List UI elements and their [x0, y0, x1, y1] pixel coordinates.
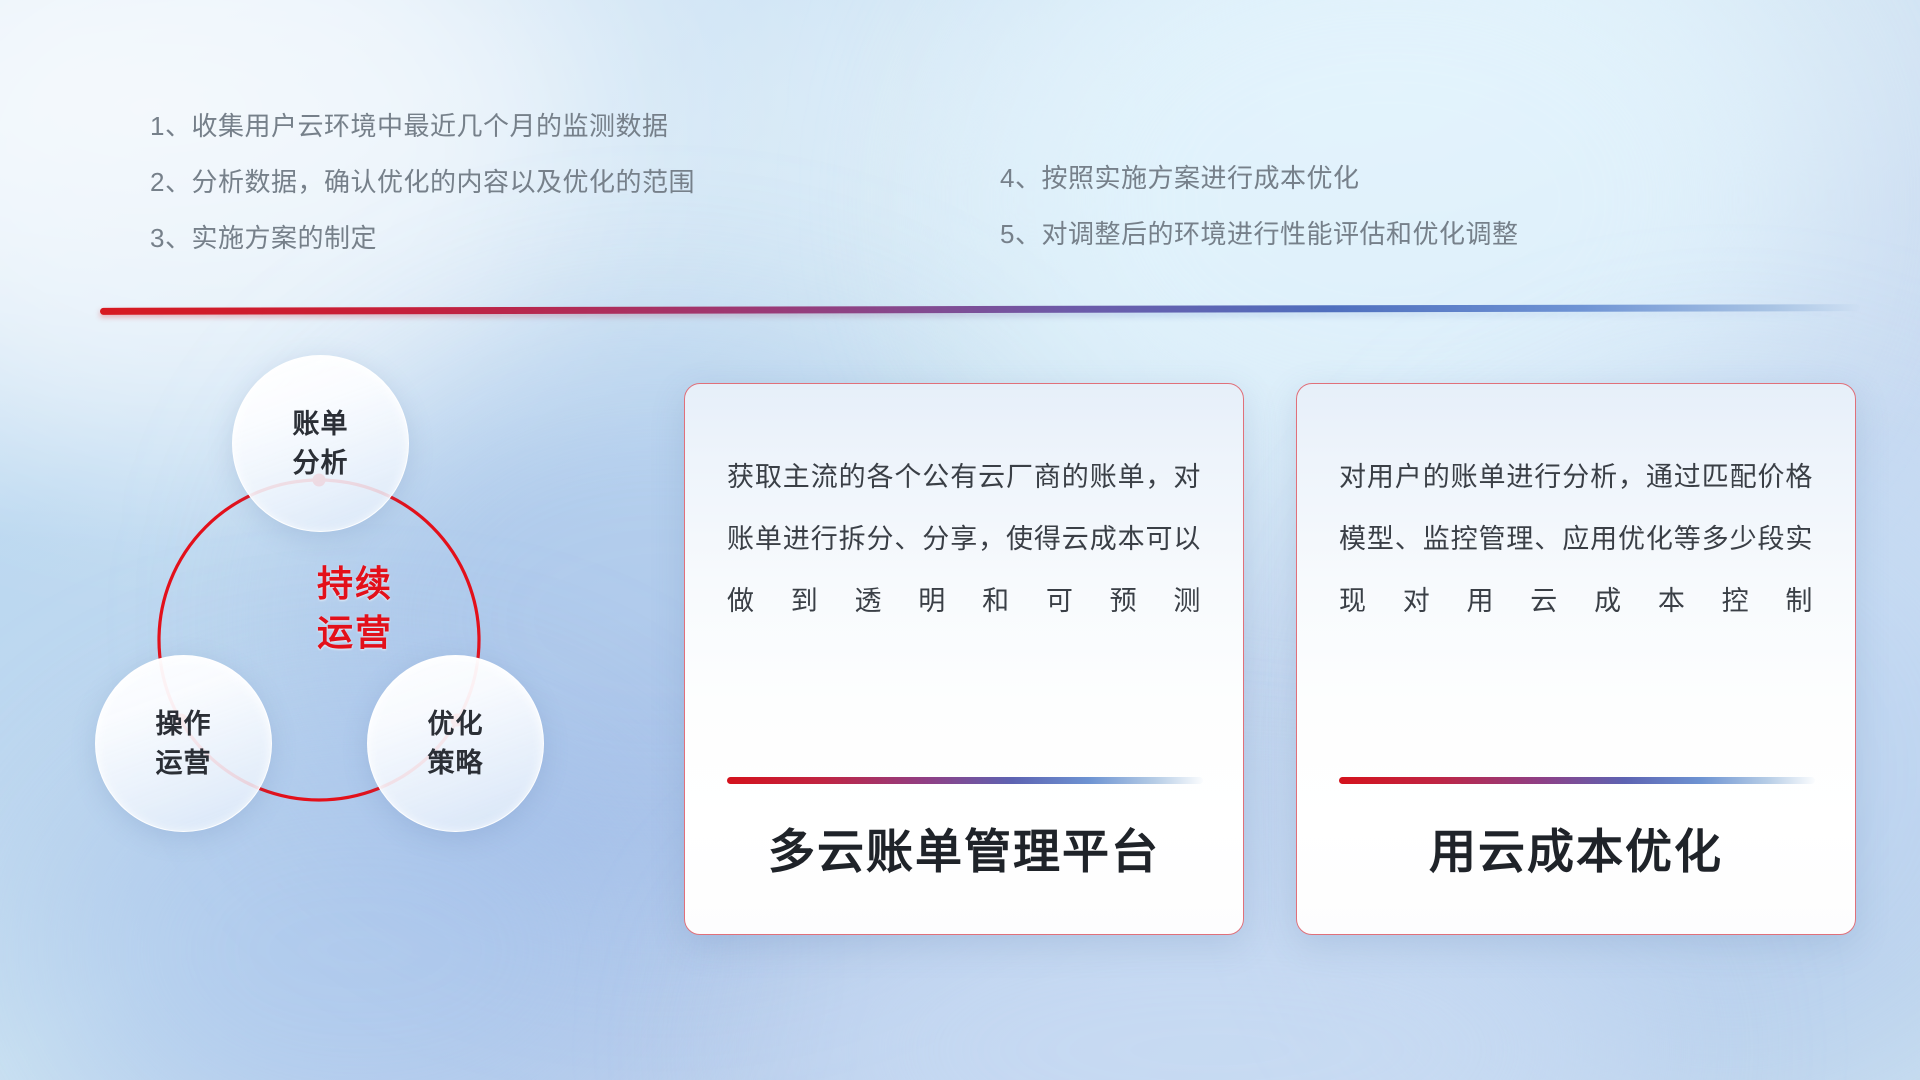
venn-bubble-billing-analysis[interactable]: 账单 分析: [232, 355, 409, 532]
venn-diagram: 账单 分析 操作 运营 优化 策略 持续 运营: [95, 355, 615, 955]
info-card-rule: [1339, 777, 1815, 784]
venn-bubble-label-line2: 策略: [428, 744, 484, 782]
steps-list-left: 1、收集用户云环境中最近几个月的监测数据 2、分析数据，确认优化的内容以及优化的…: [150, 98, 850, 266]
info-card-cost-optimization[interactable]: 对用户的账单进行分析，通过匹配价格模型、监控管理、应用优化等多少段实现对用云成本…: [1296, 383, 1856, 935]
venn-center-label: 持续 运营: [255, 560, 455, 657]
venn-bubble-label-line1: 账单: [293, 405, 349, 443]
step-item: 1、收集用户云环境中最近几个月的监测数据: [150, 98, 850, 154]
step-item: 5、对调整后的环境进行性能评估和优化调整: [1000, 206, 1720, 262]
slide-root: 1、收集用户云环境中最近几个月的监测数据 2、分析数据，确认优化的内容以及优化的…: [0, 0, 1920, 1080]
venn-bubble-label-line2: 分析: [293, 444, 349, 482]
venn-bubble-label-line1: 优化: [428, 705, 484, 743]
step-item: 3、实施方案的制定: [150, 210, 850, 266]
venn-bubble-label-line2: 运营: [156, 744, 212, 782]
venn-center-label-line2: 运营: [255, 609, 455, 658]
venn-bubble-label-line1: 操作: [156, 705, 212, 743]
info-card-body: 对用户的账单进行分析，通过匹配价格模型、监控管理、应用优化等多少段实现对用云成本…: [1339, 446, 1813, 632]
step-item: 4、按照实施方案进行成本优化: [1000, 150, 1720, 206]
step-item: 2、分析数据，确认优化的内容以及优化的范围: [150, 154, 850, 210]
info-card-multicloud-billing[interactable]: 获取主流的各个公有云厂商的账单，对账单进行拆分、分享，使得云成本可以做到透明和可…: [684, 383, 1244, 935]
venn-center-label-line1: 持续: [255, 560, 455, 609]
info-card-title: 用云成本优化: [1297, 813, 1855, 882]
info-card-title: 多云账单管理平台: [685, 813, 1243, 882]
venn-bubble-optimization-strategy[interactable]: 优化 策略: [367, 655, 544, 832]
section-divider: [100, 306, 1860, 318]
info-card-rule: [727, 777, 1203, 784]
venn-bubble-operations[interactable]: 操作 运营: [95, 655, 272, 832]
steps-list-right: 4、按照实施方案进行成本优化 5、对调整后的环境进行性能评估和优化调整: [1000, 150, 1720, 262]
info-card-body: 获取主流的各个公有云厂商的账单，对账单进行拆分、分享，使得云成本可以做到透明和可…: [727, 446, 1201, 632]
